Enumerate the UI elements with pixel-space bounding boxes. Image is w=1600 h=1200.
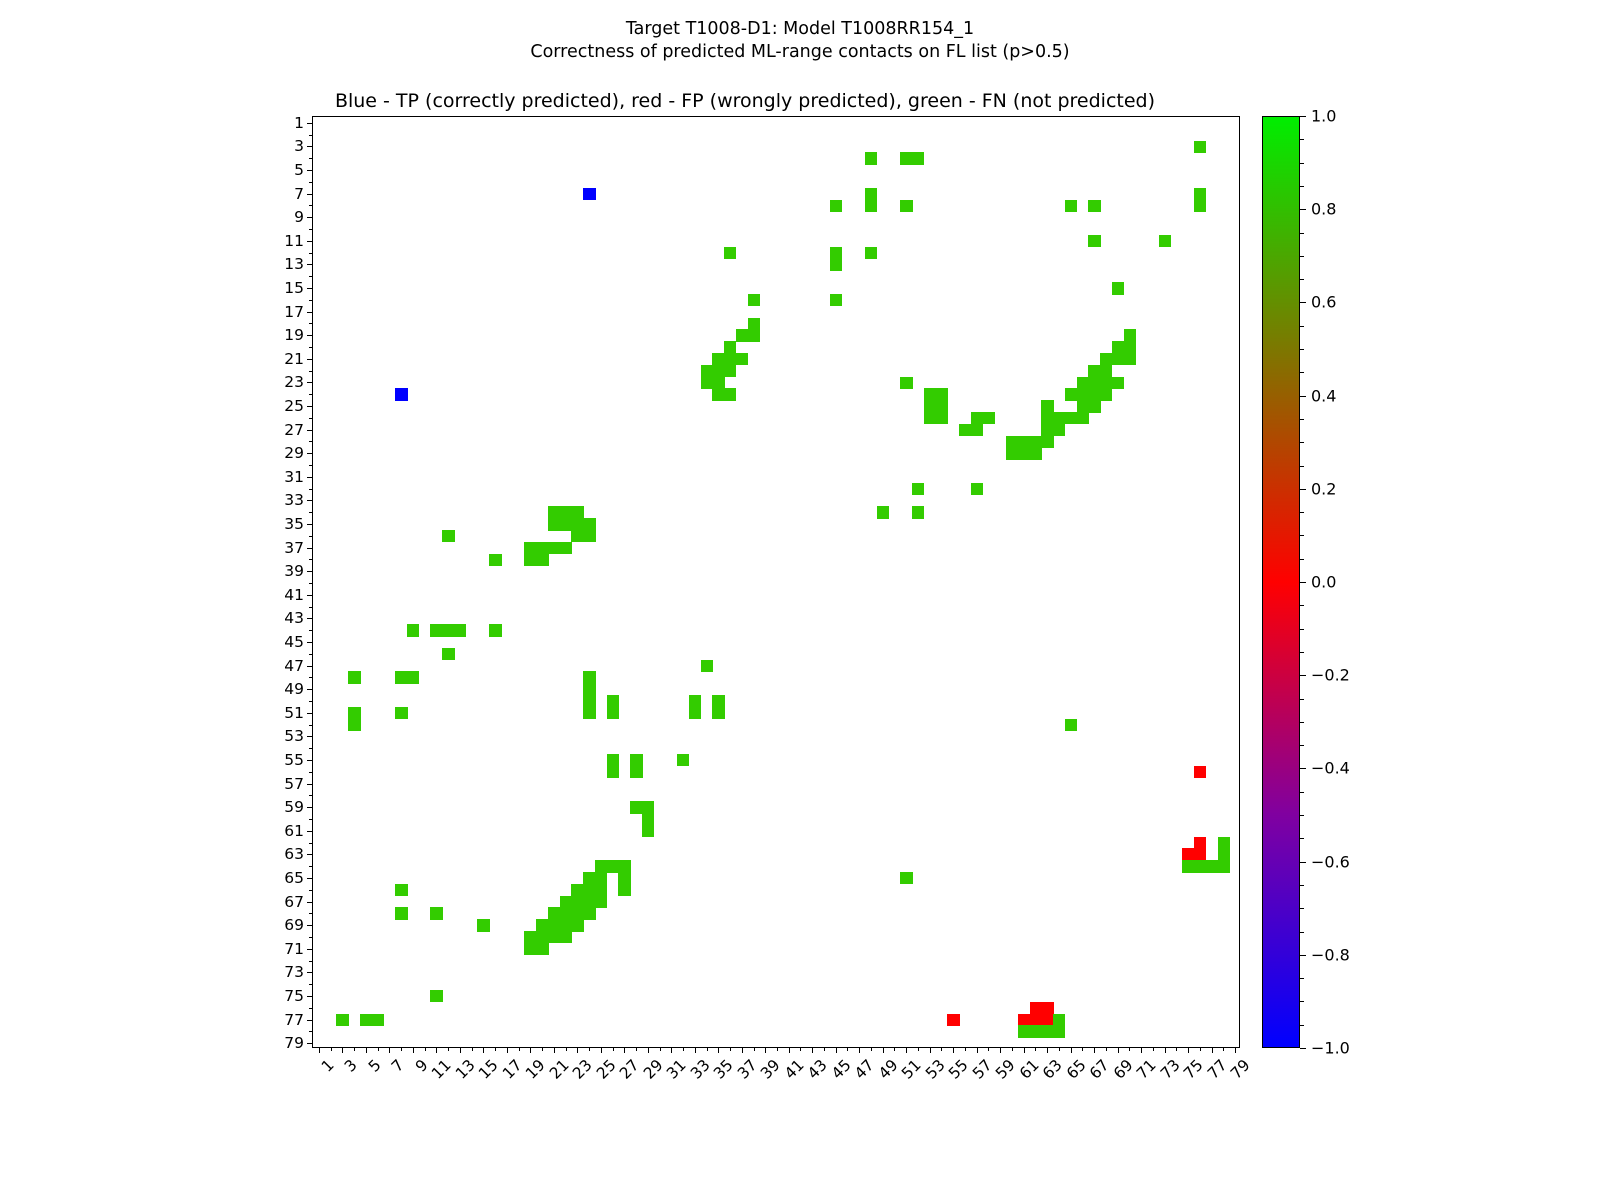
x-axis-tick bbox=[906, 1047, 907, 1053]
x-axis-tick bbox=[1200, 1047, 1201, 1051]
y-axis-tick bbox=[309, 394, 313, 395]
y-axis-tick-label: 13 bbox=[284, 255, 304, 273]
y-axis-tick bbox=[307, 807, 313, 808]
y-axis-tick bbox=[309, 182, 313, 183]
y-axis-tick bbox=[309, 253, 313, 254]
x-axis-tick bbox=[1035, 1047, 1036, 1051]
colorbar-tick bbox=[1300, 163, 1304, 164]
contact-cell-fn bbox=[1030, 447, 1042, 459]
contact-cell-fn bbox=[548, 919, 560, 931]
colorbar-tick bbox=[1300, 302, 1306, 303]
y-axis-tick-label: 67 bbox=[284, 893, 304, 911]
x-axis-tick-label: 5 bbox=[365, 1056, 385, 1076]
y-axis-tick-label: 9 bbox=[294, 208, 304, 226]
y-axis-tick-label: 79 bbox=[284, 1034, 304, 1052]
contact-cell-fn bbox=[1194, 200, 1206, 212]
x-axis-tick bbox=[460, 1047, 461, 1053]
x-axis-tick bbox=[894, 1047, 895, 1051]
contact-cell-fn bbox=[900, 872, 912, 884]
y-axis-tick-label: 3 bbox=[294, 137, 304, 155]
contact-cell-fn bbox=[1088, 400, 1100, 412]
figure-title-line-1: Target T1008-D1: Model T1008RR154_1 bbox=[0, 18, 1600, 41]
y-axis-tick bbox=[307, 666, 313, 667]
figure-title-line-2: Correctness of predicted ML-range contac… bbox=[0, 41, 1600, 64]
x-axis-tick bbox=[319, 1047, 320, 1053]
x-axis-tick-label: 79 bbox=[1227, 1056, 1254, 1083]
colorbar-tick bbox=[1300, 535, 1304, 536]
contact-cell-fn bbox=[1124, 341, 1136, 353]
colorbar-tick bbox=[1300, 396, 1306, 397]
x-axis-tick bbox=[883, 1047, 884, 1053]
contact-cell-fn bbox=[1100, 365, 1112, 377]
y-axis-tick bbox=[307, 595, 313, 596]
y-axis-tick-label: 57 bbox=[284, 775, 304, 793]
contact-cell-fn bbox=[618, 872, 630, 884]
x-axis-tick bbox=[542, 1047, 543, 1051]
contact-cell-fn bbox=[607, 695, 619, 707]
x-axis-tick bbox=[953, 1047, 954, 1053]
colorbar-tick bbox=[1300, 116, 1306, 117]
y-axis-tick-label: 75 bbox=[284, 987, 304, 1005]
y-axis-tick bbox=[309, 300, 313, 301]
y-axis-tick-label: 35 bbox=[284, 515, 304, 533]
contact-cell-fn bbox=[618, 860, 630, 872]
x-axis-tick bbox=[836, 1047, 837, 1053]
contact-cell-fn bbox=[748, 329, 760, 341]
contact-cell-fn bbox=[583, 518, 595, 530]
colorbar-tick bbox=[1300, 372, 1304, 373]
contact-cell-fn bbox=[630, 766, 642, 778]
y-axis-tick-label: 5 bbox=[294, 161, 304, 179]
y-axis-tick-label: 73 bbox=[284, 963, 304, 981]
y-axis-tick-label: 19 bbox=[284, 326, 304, 344]
y-axis-tick bbox=[309, 772, 313, 773]
contact-cell-fn bbox=[689, 707, 701, 719]
contact-cell-fn bbox=[536, 943, 548, 955]
colorbar-tick bbox=[1300, 1048, 1306, 1049]
contact-cell-fn bbox=[583, 907, 595, 919]
contact-cell-fn bbox=[865, 188, 877, 200]
contact-cell-fn bbox=[1077, 377, 1089, 389]
contact-cell-fn bbox=[642, 801, 654, 813]
contact-cell-fn bbox=[348, 719, 360, 731]
y-axis-tick bbox=[307, 972, 313, 973]
y-axis-tick bbox=[309, 630, 313, 631]
colorbar-tick bbox=[1300, 978, 1304, 979]
contact-cell-fn bbox=[630, 754, 642, 766]
colorbar-tick bbox=[1300, 885, 1304, 886]
y-axis-tick bbox=[307, 146, 313, 147]
y-axis-tick-label: 45 bbox=[284, 633, 304, 651]
y-axis-tick bbox=[307, 453, 313, 454]
contact-cell-fn bbox=[430, 907, 442, 919]
x-axis-tick bbox=[847, 1047, 848, 1051]
contact-cell-fn bbox=[571, 884, 583, 896]
x-axis-tick bbox=[483, 1047, 484, 1053]
contact-cell-fn bbox=[1065, 200, 1077, 212]
x-axis-tick bbox=[554, 1047, 555, 1053]
x-axis-tick bbox=[1188, 1047, 1189, 1053]
x-axis-tick-label: 3 bbox=[341, 1056, 361, 1076]
contact-cell-fn bbox=[536, 919, 548, 931]
figure-legend-subtitle: Blue - TP (correctly predicted), red - F… bbox=[0, 90, 1490, 112]
contact-cell-fn bbox=[536, 554, 548, 566]
x-axis-tick bbox=[636, 1047, 637, 1051]
colorbar-tick bbox=[1300, 745, 1304, 746]
contact-cell-fn bbox=[524, 943, 536, 955]
contact-cell-fn bbox=[724, 247, 736, 259]
contact-cell-fn bbox=[924, 388, 936, 400]
x-axis-tick bbox=[342, 1047, 343, 1053]
x-axis-tick bbox=[965, 1047, 966, 1051]
x-axis-tick bbox=[765, 1047, 766, 1053]
contact-cell-fn bbox=[1053, 424, 1065, 436]
y-axis-tick bbox=[307, 925, 313, 926]
contact-cell-fn bbox=[1206, 860, 1218, 872]
x-axis-tick bbox=[1235, 1047, 1236, 1053]
contact-cell-fn bbox=[607, 707, 619, 719]
y-axis-tick bbox=[307, 430, 313, 431]
contact-cell-fn bbox=[748, 294, 760, 306]
contact-cell-fn bbox=[1088, 200, 1100, 212]
contact-cell-fn bbox=[348, 707, 360, 719]
contact-cell-fn bbox=[865, 200, 877, 212]
contact-cell-fn bbox=[583, 683, 595, 695]
contact-cell-fn bbox=[477, 919, 489, 931]
contact-cell-fn bbox=[583, 671, 595, 683]
x-axis-tick bbox=[354, 1047, 355, 1051]
colorbar-tick bbox=[1300, 349, 1304, 350]
contact-cell-fn bbox=[560, 896, 572, 908]
contact-cell-fn bbox=[748, 318, 760, 330]
y-axis-tick bbox=[309, 489, 313, 490]
x-axis-tick bbox=[754, 1047, 755, 1051]
x-axis-tick bbox=[730, 1047, 731, 1051]
contact-cell-fn bbox=[607, 766, 619, 778]
contact-cell-fn bbox=[489, 624, 501, 636]
x-axis-tick bbox=[613, 1047, 614, 1051]
colorbar-tick bbox=[1300, 186, 1304, 187]
contact-cell-fn bbox=[701, 377, 713, 389]
y-axis-tick bbox=[309, 135, 313, 136]
y-axis-tick bbox=[307, 760, 313, 761]
y-axis-tick bbox=[309, 748, 313, 749]
y-axis-tick-label: 15 bbox=[284, 279, 304, 297]
y-axis-tick bbox=[307, 477, 313, 478]
colorbar-tick bbox=[1300, 442, 1304, 443]
contact-cell-fn bbox=[1065, 388, 1077, 400]
contact-cell-fn bbox=[571, 518, 583, 530]
y-axis-tick bbox=[309, 205, 313, 206]
contact-cell-fn bbox=[583, 896, 595, 908]
x-axis-tick bbox=[1165, 1047, 1166, 1053]
contact-cell-fp bbox=[1194, 837, 1206, 849]
contact-cell-fn bbox=[1088, 365, 1100, 377]
y-axis-tick bbox=[309, 795, 313, 796]
x-axis-tick bbox=[601, 1047, 602, 1053]
x-axis-tick bbox=[1118, 1047, 1119, 1053]
contact-cell-fn bbox=[1053, 412, 1065, 424]
contact-cell-fn bbox=[524, 931, 536, 943]
contact-cell-fn bbox=[724, 365, 736, 377]
contact-cell-fn bbox=[1018, 1025, 1030, 1037]
contact-cell-fn bbox=[395, 884, 407, 896]
contact-cell-fn bbox=[407, 671, 419, 683]
y-axis-tick-label: 7 bbox=[294, 185, 304, 203]
contact-cell-fn bbox=[724, 341, 736, 353]
x-axis-tick bbox=[1082, 1047, 1083, 1051]
contact-cell-fn bbox=[924, 400, 936, 412]
contact-cell-fn bbox=[936, 412, 948, 424]
contact-cell-fn bbox=[360, 1014, 372, 1026]
y-axis-tick-label: 47 bbox=[284, 657, 304, 675]
contact-cell-fn bbox=[1088, 235, 1100, 247]
contact-cell-fn bbox=[548, 907, 560, 919]
contact-cell-fn bbox=[912, 506, 924, 518]
contact-cell-fn bbox=[489, 554, 501, 566]
y-axis-tick bbox=[307, 123, 313, 124]
contact-cell-fn bbox=[1112, 377, 1124, 389]
contact-cell-fn bbox=[395, 707, 407, 719]
contact-cell-fn bbox=[1041, 436, 1053, 448]
contact-cell-fn bbox=[1218, 837, 1230, 849]
contact-cell-fn bbox=[407, 624, 419, 636]
y-axis-tick bbox=[309, 819, 313, 820]
x-axis-tick bbox=[519, 1047, 520, 1051]
y-axis-tick bbox=[307, 241, 313, 242]
y-axis-tick-label: 53 bbox=[284, 727, 304, 745]
x-axis-tick bbox=[566, 1047, 567, 1051]
contact-cell-fn bbox=[971, 483, 983, 495]
contact-cell-fn bbox=[1053, 1025, 1065, 1037]
colorbar-tick bbox=[1300, 489, 1306, 490]
contact-cell-fn bbox=[830, 259, 842, 271]
contact-map-plot-area[interactable]: 1357911131517192123252729313335373941434… bbox=[312, 116, 1240, 1048]
contact-cell-fn bbox=[736, 353, 748, 365]
x-axis-tick bbox=[1000, 1047, 1001, 1053]
x-axis-tick bbox=[448, 1047, 449, 1051]
colorbar-tick-label: 0.0 bbox=[1311, 573, 1336, 592]
y-axis-tick bbox=[309, 512, 313, 513]
y-axis-tick bbox=[307, 831, 313, 832]
contact-cell-fn bbox=[1077, 388, 1089, 400]
contact-cell-fn bbox=[560, 506, 572, 518]
x-axis-tick bbox=[1106, 1047, 1107, 1051]
contact-cell-fn bbox=[548, 506, 560, 518]
y-axis-tick bbox=[307, 713, 313, 714]
contact-cell-fn bbox=[936, 400, 948, 412]
contact-cell-fn bbox=[830, 294, 842, 306]
y-axis-tick bbox=[307, 784, 313, 785]
contact-cell-fn bbox=[630, 801, 642, 813]
y-axis-tick bbox=[309, 465, 313, 466]
x-axis-tick bbox=[1071, 1047, 1072, 1053]
contact-cell-fn bbox=[1182, 860, 1194, 872]
colorbar-tick bbox=[1300, 652, 1304, 653]
y-axis-tick bbox=[307, 1043, 313, 1044]
y-axis-tick bbox=[307, 500, 313, 501]
contact-cell-fn bbox=[571, 907, 583, 919]
x-axis-tick bbox=[777, 1047, 778, 1051]
x-axis-tick bbox=[695, 1047, 696, 1053]
y-axis-tick-label: 71 bbox=[284, 940, 304, 958]
x-axis-tick bbox=[648, 1047, 649, 1053]
contact-cell-fp bbox=[1041, 1002, 1053, 1014]
contact-cell-fp bbox=[1194, 766, 1206, 778]
contact-cell-fn bbox=[1124, 353, 1136, 365]
colorbar-tick-label: −0.6 bbox=[1311, 852, 1350, 871]
contact-cell-fn bbox=[865, 152, 877, 164]
y-axis-tick-label: 1 bbox=[294, 114, 304, 132]
y-axis-tick-label: 43 bbox=[284, 609, 304, 627]
contact-cell-fn bbox=[1100, 377, 1112, 389]
x-axis-tick-label: 1 bbox=[318, 1056, 338, 1076]
y-axis-tick-label: 63 bbox=[284, 845, 304, 863]
y-axis-tick bbox=[307, 736, 313, 737]
y-axis-tick bbox=[309, 937, 313, 938]
y-axis-tick-label: 11 bbox=[284, 232, 304, 250]
colorbar-tick-label: 1.0 bbox=[1311, 107, 1336, 126]
contact-cell-fn bbox=[1018, 447, 1030, 459]
contact-cell-fn bbox=[583, 695, 595, 707]
colorbar-tick bbox=[1300, 139, 1304, 140]
contact-cell-fn bbox=[865, 247, 877, 259]
contact-cell-fn bbox=[712, 353, 724, 365]
contact-cell-fn bbox=[1194, 188, 1206, 200]
x-axis-tick bbox=[718, 1047, 719, 1053]
colorbar-tick bbox=[1300, 256, 1304, 257]
contact-cell-fn bbox=[1041, 400, 1053, 412]
contact-cell-fn bbox=[336, 1014, 348, 1026]
colorbar-tick-label: 0.4 bbox=[1311, 386, 1336, 405]
colorbar-tick bbox=[1300, 1025, 1304, 1026]
x-axis-tick bbox=[977, 1047, 978, 1053]
y-axis-tick-label: 59 bbox=[284, 798, 304, 816]
y-axis-tick bbox=[307, 854, 313, 855]
contact-cell-fn bbox=[1041, 412, 1053, 424]
y-axis-tick-label: 17 bbox=[284, 303, 304, 321]
contact-cell-fn bbox=[1030, 436, 1042, 448]
colorbar-tick bbox=[1300, 279, 1304, 280]
x-axis-tick bbox=[1059, 1047, 1060, 1051]
y-axis-tick bbox=[307, 264, 313, 265]
y-axis-tick bbox=[307, 949, 313, 950]
x-axis-tick bbox=[1212, 1047, 1213, 1053]
contact-cell-fn bbox=[571, 530, 583, 542]
contact-cell-fn bbox=[548, 542, 560, 554]
y-axis-tick bbox=[307, 406, 313, 407]
colorbar-tick bbox=[1300, 582, 1306, 583]
contact-cell-fn bbox=[712, 707, 724, 719]
contact-cell-fn bbox=[536, 931, 548, 943]
contact-cell-fn bbox=[442, 648, 454, 660]
contact-cell-fn bbox=[1065, 719, 1077, 731]
contact-map-figure: Target T1008-D1: Model T1008RR154_1 Corr… bbox=[0, 0, 1600, 1200]
contact-cell-fn bbox=[618, 884, 630, 896]
x-axis-tick bbox=[1047, 1047, 1048, 1053]
contact-cell-fn bbox=[677, 754, 689, 766]
contact-cell-fn bbox=[1218, 848, 1230, 860]
y-axis-tick bbox=[307, 194, 313, 195]
contact-cell-fn bbox=[642, 813, 654, 825]
y-axis-tick bbox=[307, 548, 313, 549]
y-axis-tick bbox=[307, 359, 313, 360]
contact-cell-tp bbox=[583, 188, 595, 200]
colorbar-tick-label: 0.6 bbox=[1311, 293, 1336, 312]
y-axis-tick-label: 37 bbox=[284, 539, 304, 557]
contact-cell-fn bbox=[595, 884, 607, 896]
contact-cell-fn bbox=[1088, 388, 1100, 400]
y-axis-tick bbox=[309, 441, 313, 442]
x-axis-tick bbox=[660, 1047, 661, 1051]
contact-cell-fn bbox=[1100, 353, 1112, 365]
contact-cell-fn bbox=[900, 152, 912, 164]
y-axis-tick bbox=[309, 913, 313, 914]
contact-cell-fp bbox=[1182, 848, 1194, 860]
y-axis-tick bbox=[309, 843, 313, 844]
colorbar-tick-label: 0.8 bbox=[1311, 200, 1336, 219]
y-axis-tick-label: 39 bbox=[284, 562, 304, 580]
colorbar-tick bbox=[1300, 792, 1304, 793]
colorbar: 1.00.80.60.40.20.0−0.2−0.4−0.6−0.8−1.0 bbox=[1262, 116, 1300, 1048]
contact-cell-fn bbox=[1006, 436, 1018, 448]
contact-cell-fn bbox=[595, 896, 607, 908]
x-axis-tick bbox=[1223, 1047, 1224, 1051]
colorbar-tick bbox=[1300, 326, 1304, 327]
y-axis-tick bbox=[307, 1020, 313, 1021]
y-axis-tick-label: 33 bbox=[284, 491, 304, 509]
y-axis-tick-label: 41 bbox=[284, 586, 304, 604]
y-axis-tick bbox=[307, 524, 313, 525]
contact-cell-fn bbox=[1041, 1025, 1053, 1037]
contact-map-cells bbox=[313, 117, 1239, 1047]
x-axis-tick bbox=[472, 1047, 473, 1051]
x-axis-tick bbox=[436, 1047, 437, 1053]
x-axis-tick bbox=[507, 1047, 508, 1053]
contact-cell-fn bbox=[583, 707, 595, 719]
y-axis-tick bbox=[309, 1008, 313, 1009]
x-axis-tick bbox=[812, 1047, 813, 1053]
contact-cell-fn bbox=[430, 990, 442, 1002]
x-axis-tick bbox=[1176, 1047, 1177, 1051]
contact-cell-fn bbox=[442, 624, 454, 636]
contact-cell-fn bbox=[1218, 860, 1230, 872]
y-axis-tick bbox=[309, 866, 313, 867]
colorbar-tick bbox=[1300, 699, 1304, 700]
x-axis-tick bbox=[742, 1047, 743, 1053]
contact-cell-fn bbox=[1077, 400, 1089, 412]
contact-cell-fn bbox=[1018, 436, 1030, 448]
y-axis-tick bbox=[309, 347, 313, 348]
contact-cell-tp bbox=[395, 388, 407, 400]
colorbar-gradient bbox=[1262, 116, 1300, 1048]
y-axis-tick bbox=[309, 418, 313, 419]
y-axis-tick bbox=[307, 170, 313, 171]
x-axis-tick bbox=[425, 1047, 426, 1051]
y-axis-tick bbox=[307, 689, 313, 690]
figure-title: Target T1008-D1: Model T1008RR154_1 Corr… bbox=[0, 18, 1600, 64]
contact-cell-fn bbox=[548, 518, 560, 530]
y-axis-tick bbox=[307, 878, 313, 879]
y-axis-tick bbox=[309, 701, 313, 702]
y-axis-tick bbox=[309, 677, 313, 678]
contact-cell-fn bbox=[912, 483, 924, 495]
contact-cell-fn bbox=[583, 884, 595, 896]
contact-cell-fn bbox=[548, 931, 560, 943]
contact-cell-fn bbox=[1194, 141, 1206, 153]
contact-cell-fn bbox=[959, 424, 971, 436]
x-axis-tick bbox=[1024, 1047, 1025, 1053]
